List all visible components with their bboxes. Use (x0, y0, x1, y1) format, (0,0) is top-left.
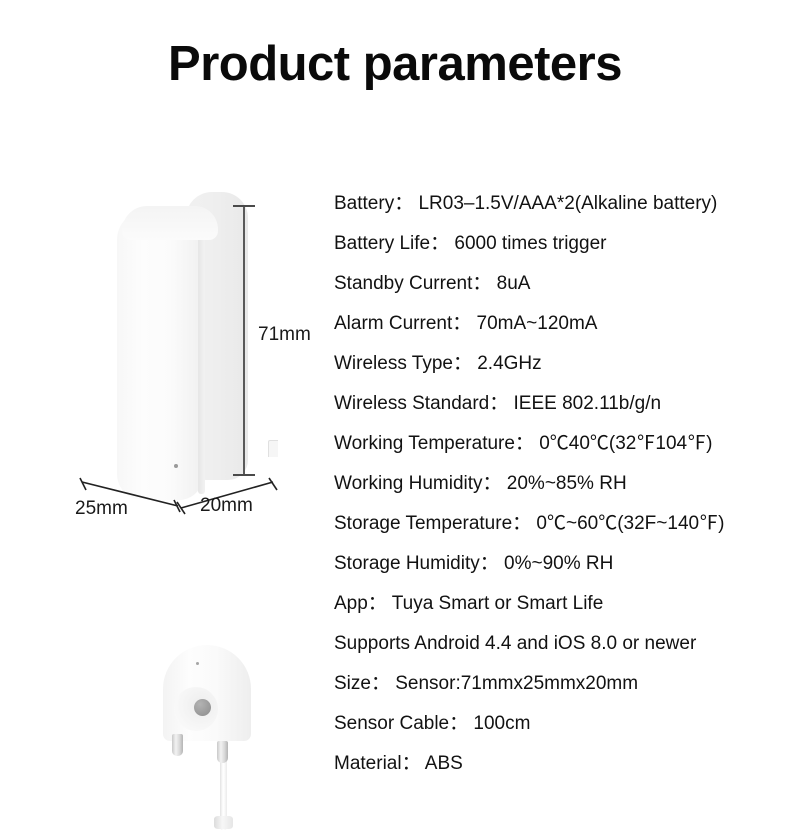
spec-row: Alarm Current： 70mA~120mA (334, 304, 774, 344)
dimension-label-width: 25mm (75, 498, 128, 520)
spec-row: Working Humidity： 20%~85% RH (334, 464, 774, 504)
dimension-cap-height-top (233, 205, 255, 207)
spec-row: Battery： LR03–1.5V/AAA*2(Alkaline batter… (334, 184, 774, 224)
sensor-body-front-face (117, 210, 203, 500)
led-indicator-icon (174, 464, 178, 468)
spec-row: Storage Temperature： 0℃~60℃(32F~140℉) (334, 504, 774, 544)
dimension-label-depth: 20mm (200, 495, 253, 517)
dimension-label-height: 71mm (258, 324, 311, 346)
sensor-body (100, 192, 260, 502)
spec-row: Supports Android 4.4 and iOS 8.0 or newe… (334, 624, 774, 664)
dimension-cap-height-bottom (233, 474, 255, 476)
probe-pin-right (217, 741, 228, 763)
page-title: Product parameters (0, 36, 790, 92)
probe-sensor-dot (194, 699, 211, 716)
spec-row: Sensor Cable： 100cm (334, 704, 774, 744)
sensor-body-seam-notch (268, 440, 278, 457)
probe-pin-left (172, 734, 183, 756)
probe-head (163, 645, 263, 765)
spec-row: Material： ABS (334, 744, 774, 784)
probe-led-icon (196, 662, 199, 665)
spec-row: Battery Life： 6000 times trigger (334, 224, 774, 264)
sensor-body-edge (198, 216, 205, 494)
spec-row: Wireless Type： 2.4GHz (334, 344, 774, 384)
spec-row: Storage Humidity： 0%~90% RH (334, 544, 774, 584)
sensor-body-top-cap (122, 206, 218, 240)
spec-row: Wireless Standard： IEEE 802.11b/g/n (334, 384, 774, 424)
spec-row: Size： Sensor:71mmx25mmx20mm (334, 664, 774, 704)
spec-row: Standby Current： 8uA (334, 264, 774, 304)
sensor-cable-collar (214, 816, 233, 829)
spec-row: App： Tuya Smart or Smart Life (334, 584, 774, 624)
spec-row: Working Temperature： 0℃40℃(32℉104℉) (334, 424, 774, 464)
specification-list: Battery： LR03–1.5V/AAA*2(Alkaline batter… (334, 184, 774, 784)
dimension-line-height (243, 205, 245, 475)
